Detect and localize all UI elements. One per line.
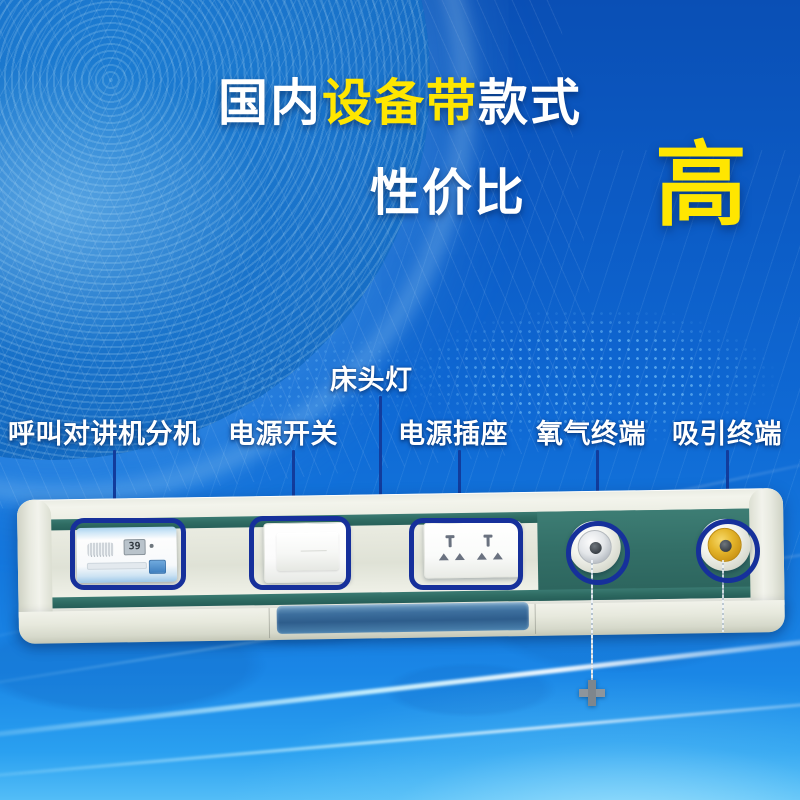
headline-segment-yellow: 设备带 — [322, 75, 478, 131]
pull-cord-handle[interactable] — [579, 680, 605, 706]
headline-block: 国内设备带款式 性价比 高 — [0, 78, 800, 128]
headline-line-1: 国内设备带款式 — [0, 78, 800, 128]
headline-segment-white-1: 国内 — [218, 75, 322, 131]
headline-line-2: 性价比 — [370, 168, 526, 218]
highlight-box-power-switch — [249, 516, 351, 590]
bed-lamp-strip[interactable] — [277, 602, 529, 634]
callout-label-intercom: 呼叫对讲机分机 — [8, 412, 201, 451]
callout-label-suction: 吸引终端 — [672, 412, 782, 451]
callout-label-bed-lamp: 床头灯 — [330, 358, 413, 397]
promo-banner: 国内设备带款式 性价比 高 呼叫对讲机分机 电源开关 床头灯 电源插座 氧气终端… — [0, 0, 800, 800]
highlight-box-power-socket — [409, 518, 523, 590]
headline-segment-white-2: 款式 — [478, 75, 582, 131]
highlight-circle-oxygen — [566, 521, 630, 585]
highlight-box-intercom — [70, 518, 186, 590]
callout-label-power-socket: 电源插座 — [398, 412, 508, 451]
headline-emphasis-gao: 高 — [655, 140, 747, 232]
light-streak — [0, 688, 800, 787]
callout-label-oxygen: 氧气终端 — [536, 412, 646, 451]
callout-label-power-switch: 电源开关 — [228, 412, 338, 451]
highlight-circle-suction — [696, 519, 760, 583]
